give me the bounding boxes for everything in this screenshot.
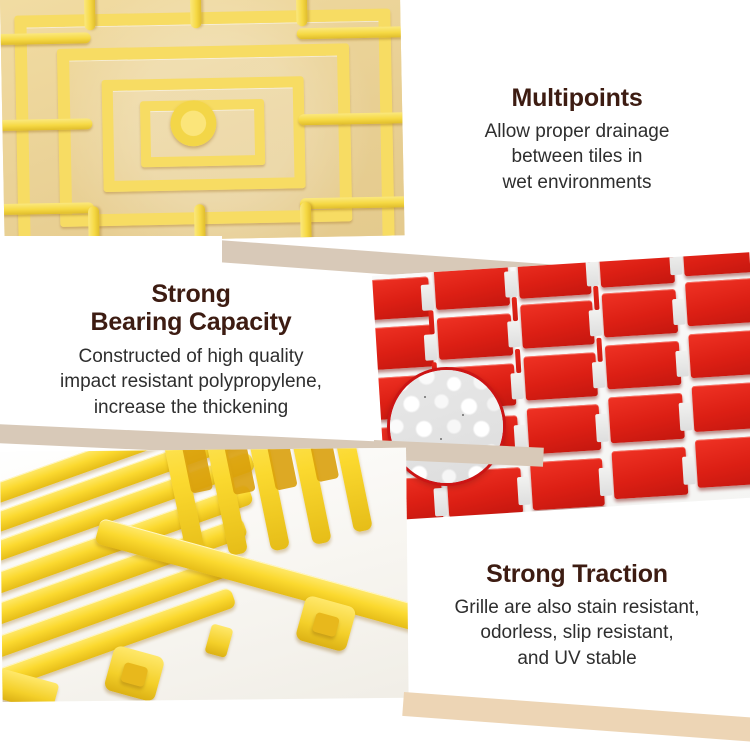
- strong-traction-body: Grille are also stain resistant, odorles…: [404, 595, 750, 671]
- feature-strong-traction: Strong Traction Grille are also stain re…: [404, 560, 750, 671]
- red-cell: [602, 289, 679, 338]
- red-tile-gap: [682, 456, 696, 485]
- tile-rib-v-6: [300, 202, 312, 243]
- bearing-capacity-body-line: increase the thickening: [18, 395, 364, 420]
- bearing-capacity-heading-line: Bearing Capacity: [18, 308, 364, 336]
- divider-band-bottom: [402, 692, 750, 745]
- multipoints-body-line: between tiles in: [404, 144, 750, 169]
- red-cell: [685, 277, 750, 326]
- red-tile-gap: [679, 402, 693, 431]
- red-tile-gap: [599, 467, 613, 496]
- strong-traction-body-line: and UV stable: [404, 646, 750, 671]
- yellow-grid-tile-photo: [0, 0, 405, 243]
- divider-band-top-mask: [0, 236, 222, 276]
- red-tile-gap: [672, 298, 686, 325]
- strong-traction-body-line: Grille are also stain resistant,: [404, 595, 750, 620]
- tile-rib-h-5: [298, 112, 404, 125]
- red-tile-gap: [433, 488, 447, 517]
- red-cell: [434, 263, 510, 310]
- feature-multipoints: Multipoints Allow proper drainage betwee…: [404, 84, 750, 195]
- red-cell: [682, 252, 750, 276]
- red-cell: [520, 300, 595, 348]
- strong-traction-heading: Strong Traction: [404, 560, 750, 588]
- red-cell: [437, 313, 513, 360]
- red-tile-gap: [595, 414, 609, 443]
- red-cell: [695, 435, 750, 488]
- tile-rib-v-3: [295, 0, 307, 26]
- red-tile-gap: [585, 260, 599, 287]
- infographic-canvas: Multipoints Allow proper drainage betwee…: [0, 0, 750, 754]
- bearing-capacity-heading: Strong Bearing Capacity: [18, 280, 364, 336]
- red-cell: [517, 252, 591, 298]
- red-tile-gap: [424, 334, 438, 361]
- bearing-capacity-body-line: Constructed of high quality: [18, 344, 364, 369]
- red-cell: [688, 329, 750, 378]
- red-cell: [608, 393, 685, 444]
- red-tile-gap: [507, 321, 521, 348]
- red-cell: [692, 381, 750, 432]
- feature-bearing-capacity: Strong Bearing Capacity Constructed of h…: [18, 280, 364, 420]
- red-cell: [523, 352, 598, 400]
- strong-traction-body-line: odorless, slip resistant,: [404, 620, 750, 645]
- red-tile-gap: [421, 284, 435, 311]
- red-tile-gap: [675, 350, 689, 377]
- red-tile-gap: [669, 252, 683, 275]
- red-tile-gap: [517, 477, 531, 506]
- multipoints-body-line: Allow proper drainage: [404, 119, 750, 144]
- multipoints-body-line: wet environments: [404, 170, 750, 195]
- tile-rib-h-6: [300, 196, 405, 209]
- tile-rib-h-4: [297, 26, 405, 39]
- multipoints-body: Allow proper drainage between tiles in w…: [404, 119, 750, 195]
- tile-rib-v-1: [84, 0, 96, 30]
- red-tile-gap: [504, 271, 518, 298]
- red-tile-gap: [510, 373, 524, 400]
- yellow-corner-tile-photo: [0, 448, 409, 702]
- tile-rib-v-2: [190, 0, 202, 28]
- multipoints-heading: Multipoints: [404, 84, 750, 112]
- bearing-capacity-body-line: impact resistant polypropylene,: [18, 369, 364, 394]
- red-cell: [611, 447, 688, 500]
- bearing-capacity-body: Constructed of high quality impact resis…: [18, 344, 364, 420]
- red-cell: [599, 252, 675, 287]
- red-tile-gap: [592, 362, 606, 389]
- bearing-capacity-heading-line: Strong: [18, 280, 364, 308]
- red-cell: [605, 341, 682, 390]
- red-tile-gap: [589, 310, 603, 337]
